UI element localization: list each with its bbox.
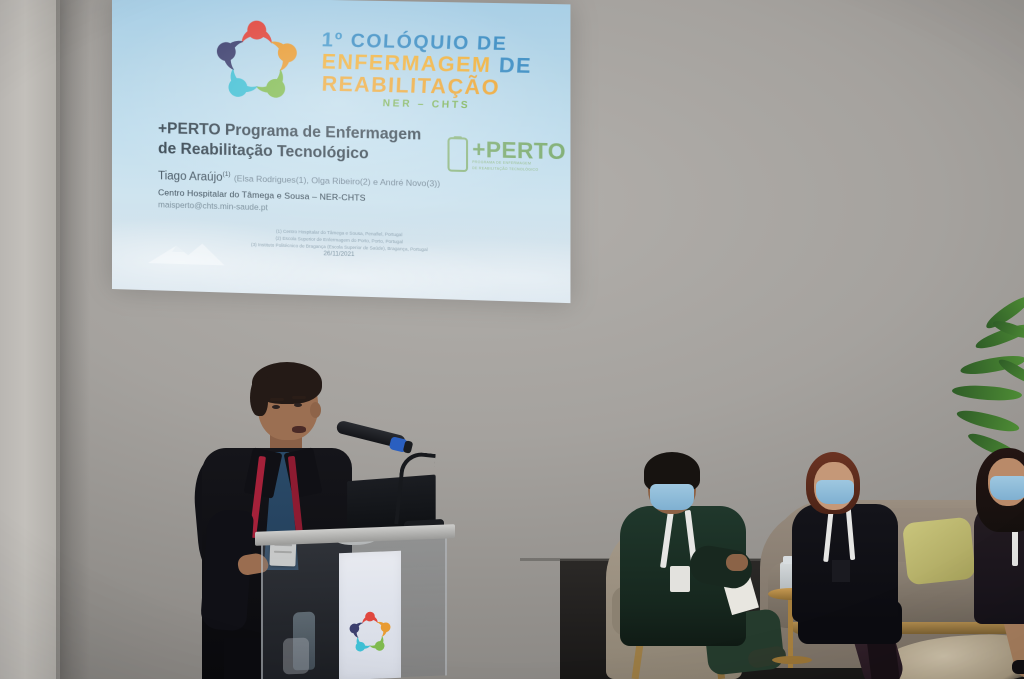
logo-line-3: REABILITAÇÃO: [321, 73, 532, 99]
wall-shadow: [56, 0, 90, 679]
projection-screen: 1º COLÓQUIO DE ENFERMAGEM DE REABILITAÇÃ…: [112, 0, 570, 303]
palm-frond: [955, 405, 1020, 436]
slide-title: +PERTO Programa de Enfermagem de Reabili…: [158, 119, 463, 168]
logo-ordinal: 1º: [321, 29, 344, 52]
perto-tagline-2: DE REABILITAÇÃO TECNOLÓGICO: [472, 166, 566, 173]
panelist-man-face-mask: [650, 484, 694, 510]
panelist-man-badge: [670, 566, 690, 592]
colloquium-logo: 1º COLÓQUIO DE ENFERMAGEM DE REABILITAÇÃ…: [200, 2, 558, 129]
perto-product-logo: +PERTO PROGRAMA DE ENFERMAGEM DE REABILI…: [446, 136, 565, 176]
panelist-woman-center-badge: [832, 560, 850, 582]
colloquium-logo-text: 1º COLÓQUIO DE ENFERMAGEM DE REABILITAÇÃ…: [322, 20, 532, 113]
speaker-sideburn: [250, 376, 268, 416]
conference-photo-scene: 1º COLÓQUIO DE ENFERMAGEM DE REABILITAÇÃ…: [0, 0, 1024, 679]
panelist-woman-right-face-mask: [990, 476, 1024, 500]
panelist-man-hand: [726, 554, 748, 571]
panelist-woman-couch-right: [968, 448, 1024, 679]
panelist-woman-right-shoe: [1012, 660, 1024, 674]
presenter-affil-marker: (1): [223, 171, 231, 178]
logo-line-4: NER – CHTS: [321, 97, 532, 112]
speaker-mouth: [292, 426, 306, 433]
panelist-woman-center-face-mask: [816, 480, 854, 504]
lectern-branding-panel: [339, 551, 401, 679]
lectern-people-circle-icon: [341, 603, 399, 663]
speaker-brow-right: [292, 396, 306, 399]
panelist-man-armchair: [614, 452, 774, 672]
speaker-brow-left: [270, 398, 284, 401]
speaker-eye-right: [294, 403, 302, 407]
speaker-eye-left: [272, 405, 280, 409]
people-circle-icon: [200, 5, 313, 120]
logo-line-2-de: DE: [498, 53, 532, 77]
lectern: [255, 528, 455, 679]
palm-frond: [951, 382, 1022, 403]
perto-wordmark: +PERTO: [472, 139, 566, 161]
speaker-ear: [310, 402, 321, 418]
smartphone-icon: [446, 136, 469, 173]
coauthor-names: (Elsa Rodrigues(1), Olga Ribeiro(2) e An…: [234, 173, 440, 188]
lectern-shelf-item: [283, 638, 309, 675]
presenter-name: Tiago Araújo: [158, 170, 223, 184]
panelist-woman-couch-center: [786, 452, 936, 678]
wall-left-panel: [0, 0, 60, 679]
